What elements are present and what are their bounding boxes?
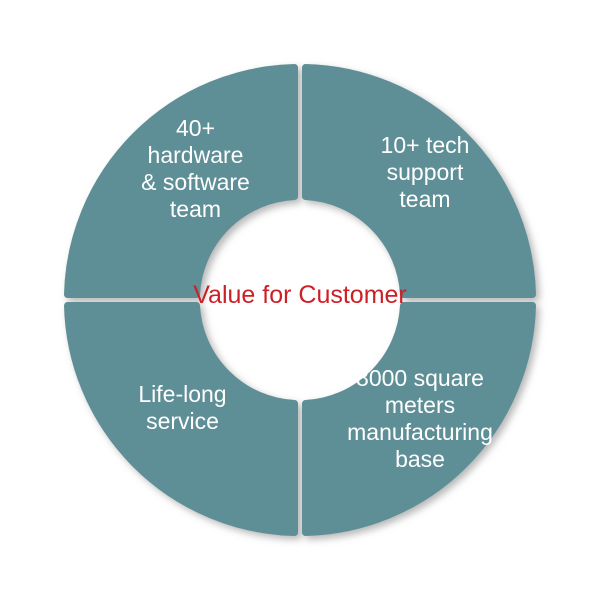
segment-tech-support-team[interactable] — [306, 68, 533, 295]
segment-hardware-software-team[interactable] — [68, 68, 295, 295]
segment-life-long-service[interactable] — [68, 306, 295, 533]
center-title: Value for Customer — [150, 281, 450, 310]
value-for-customer-diagram: 40+ hardware & software team 10+ tech su… — [0, 0, 600, 600]
segment-manufacturing-base[interactable] — [306, 306, 533, 533]
